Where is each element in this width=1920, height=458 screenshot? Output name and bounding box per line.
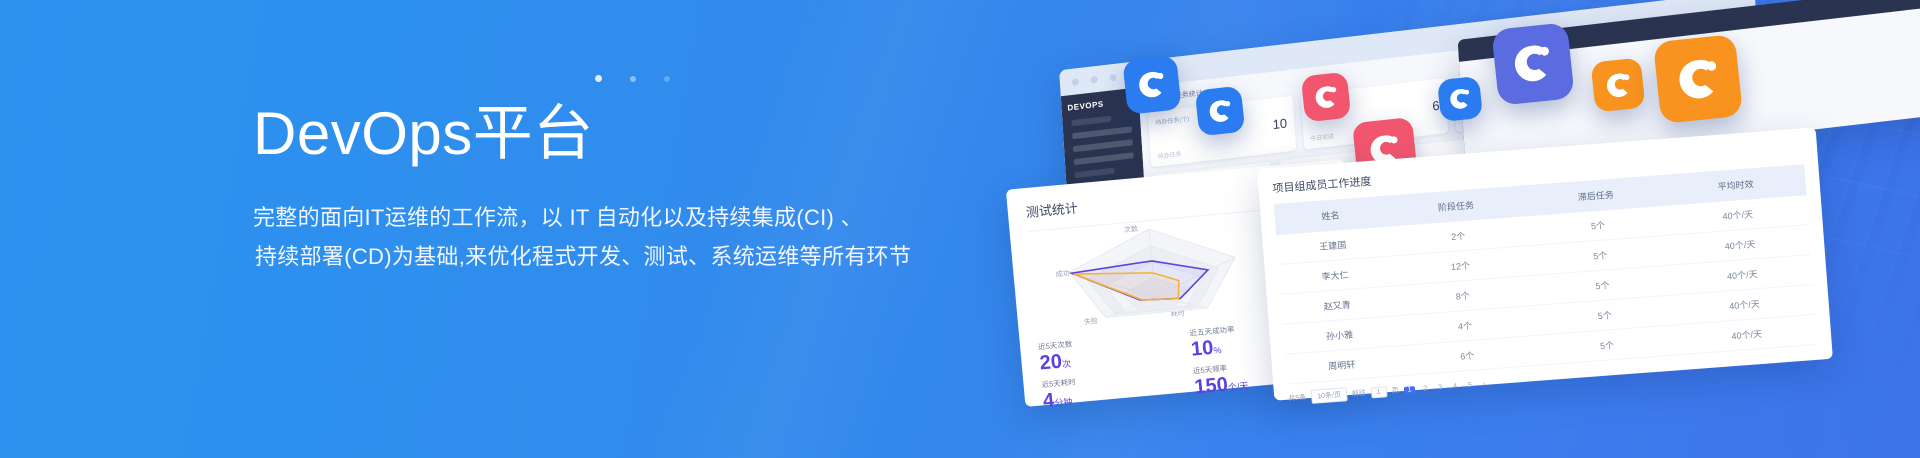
devops-hero-banner: DevOps平台 完整的面向IT运维的工作流，以 IT 自动化以及持续集成(CI… [0, 0, 1920, 458]
devops-infinity-icon [1310, 81, 1341, 112]
pagination-page-unit: 页 [1391, 385, 1399, 395]
devops-infinity-icon [1134, 67, 1171, 104]
window-dot-3 [1109, 73, 1116, 81]
pagination-total: 共5条 [1288, 392, 1307, 403]
pagination-page-2[interactable]: 2 [1420, 384, 1430, 392]
hero-subtitle-line-1: 完整的面向IT运维的工作流，以 IT 自动化以及持续集成(CI) 、 [253, 198, 1083, 237]
sidebar-item[interactable] [1075, 168, 1115, 179]
stat-kpi-number: 10 [1190, 337, 1214, 361]
sidebar-logo: DEVOPS [1067, 96, 1133, 113]
pagination-page-5[interactable]: 5 [1465, 381, 1475, 389]
stat-kpi-unit: % [1213, 345, 1222, 356]
devops-logo-tile [1437, 76, 1483, 122]
page-title: DevOps平台 [253, 100, 1083, 167]
dot-2 [630, 76, 636, 82]
decorative-dots [595, 75, 670, 82]
devops-infinity-icon [1446, 85, 1475, 114]
devops-infinity-icon [1601, 68, 1635, 102]
dot-3 [664, 76, 670, 82]
dot-1 [595, 75, 602, 82]
page-number-input[interactable]: 1 [1370, 386, 1387, 398]
devops-infinity-icon [1507, 38, 1559, 90]
pagination-page-1[interactable]: 1 [1403, 386, 1415, 394]
hero-subtitle-line-2: 持续部署(CD)为基础,来优化程式开发、测试、系统运维等所有环节 [253, 237, 1083, 276]
devops-infinity-icon [1670, 51, 1726, 107]
stat-kpi-unit: 次 [1062, 359, 1072, 370]
sidebar-item[interactable] [1073, 139, 1133, 152]
window-dot-2 [1091, 75, 1098, 83]
pagination-next-button[interactable]: › [1480, 380, 1489, 388]
sidebar-item[interactable] [1072, 126, 1132, 139]
sidebar-item[interactable] [1074, 152, 1134, 165]
stat-kpi-unit: 分钟 [1054, 397, 1073, 409]
hero-copy: DevOps平台 完整的面向IT运维的工作流，以 IT 自动化以及持续集成(CI… [253, 100, 1083, 276]
page-size-select[interactable]: 10条/页 [1311, 387, 1348, 404]
devops-logo-tile [1653, 34, 1743, 124]
stat-kpi: 近5天耗时 4分钟 [1041, 366, 1195, 413]
devops-logo-tile [1301, 72, 1352, 123]
member-progress-table: 姓名 阶段任务 滞后任务 平均时效 王建国 2个 5个 40个/天 李大仁 [1274, 164, 1818, 384]
radar-chart [1054, 212, 1252, 329]
devops-logo-tile [1591, 58, 1646, 113]
devops-logo-tile [1491, 22, 1575, 106]
stat-kpi-number: 150 [1194, 374, 1229, 399]
pagination-goto-label: 前往 [1351, 388, 1366, 399]
window-dot-1 [1072, 78, 1079, 86]
member-progress-card: 项目组成员工作进度 姓名 阶段任务 滞后任务 平均时效 王建国 2个 5个 [1257, 127, 1833, 400]
devops-logo-tile [1122, 55, 1181, 114]
stat-kpi-unit: 个/天 [1228, 381, 1249, 393]
pagination-page-3[interactable]: 3 [1435, 383, 1445, 391]
product-mockup-collage: DEVOPS 概览 任务统计 [1025, 0, 1920, 458]
devops-infinity-icon [1204, 95, 1235, 126]
pagination-page-4[interactable]: 4 [1450, 382, 1460, 390]
sidebar-item[interactable] [1071, 116, 1111, 127]
hero-subtitle: 完整的面向IT运维的工作流，以 IT 自动化以及持续集成(CI) 、 持续部署(… [253, 198, 1083, 276]
devops-logo-tile [1195, 86, 1246, 137]
stat-kpi-number: 20 [1039, 351, 1063, 375]
